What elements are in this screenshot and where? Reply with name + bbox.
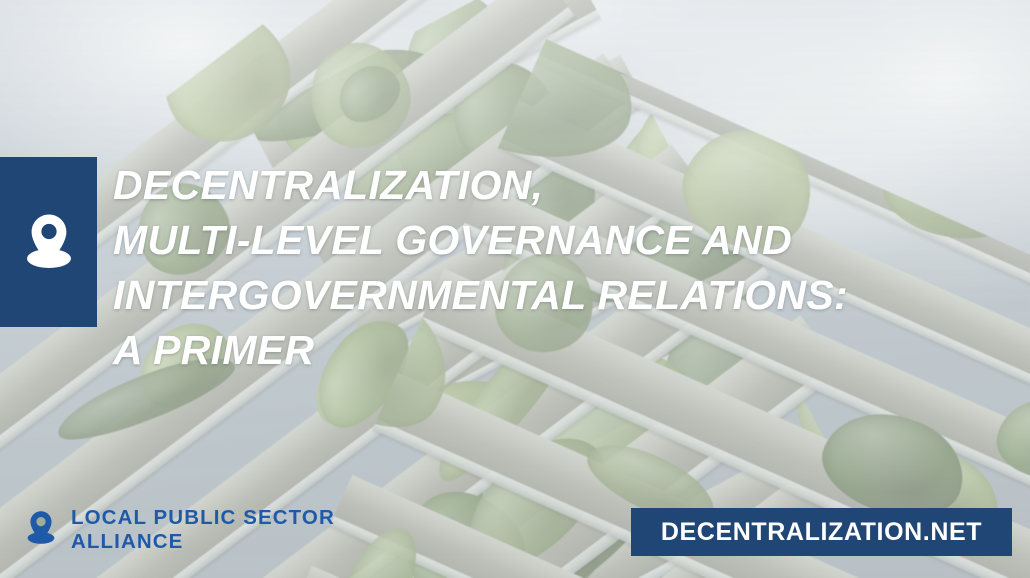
title-line-1: DECENTRALIZATION, xyxy=(113,158,893,213)
organization-name-line-2: ALLIANCE xyxy=(71,530,335,554)
organization-name-line-1: LOCAL PUBLIC SECTOR xyxy=(71,506,335,530)
website-url-text: DECENTRALIZATION.NET xyxy=(661,518,982,547)
website-url-box[interactable]: DECENTRALIZATION.NET xyxy=(631,508,1012,556)
title-line-4: A PRIMER xyxy=(113,323,893,378)
title-card-banner: DECENTRALIZATION, MULTI-LEVEL GOVERNANCE… xyxy=(0,0,1030,578)
page-title: DECENTRALIZATION, MULTI-LEVEL GOVERNANCE… xyxy=(113,158,893,378)
organization-name: LOCAL PUBLIC SECTOR ALLIANCE xyxy=(71,506,335,554)
title-line-2: MULTI-LEVEL GOVERNANCE AND xyxy=(113,213,893,268)
map-pin-icon xyxy=(24,508,58,553)
organization-logo: LOCAL PUBLIC SECTOR ALLIANCE xyxy=(24,506,335,554)
map-pin-icon xyxy=(21,211,77,273)
logo-badge xyxy=(0,157,97,327)
title-line-3: INTERGOVERNMENTAL RELATIONS: xyxy=(113,268,893,323)
